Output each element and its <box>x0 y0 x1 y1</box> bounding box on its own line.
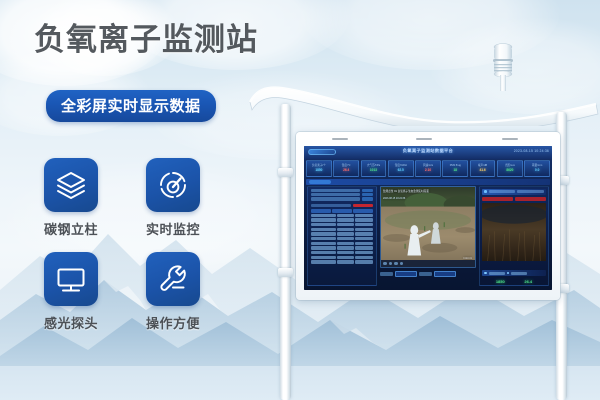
right-panel-readouts: 185026.4 <box>486 279 542 284</box>
table-row[interactable] <box>311 251 373 254</box>
kpi-value: 62.5 <box>398 169 404 172</box>
kpi-card: 大气压/hPa1013 <box>361 160 387 177</box>
selector-label <box>380 272 393 276</box>
kpi-value: 41.6 <box>479 169 485 172</box>
right-panel-header <box>482 189 546 195</box>
table-row[interactable] <box>311 223 373 226</box>
status-badge <box>482 197 513 201</box>
feature-row: 碳钢立柱 实时监控 <box>44 158 244 238</box>
radar-monitor-icon <box>146 158 200 212</box>
table-row[interactable] <box>311 214 373 217</box>
kpi-card: PM2.5/ug18 <box>442 160 468 177</box>
video-selector-row[interactable] <box>380 270 476 278</box>
feature-grid: 碳钢立柱 实时监控 <box>44 158 244 346</box>
screen-subtoolbar <box>306 179 550 185</box>
screen-left-data-panel[interactable] <box>307 186 377 286</box>
wrench-icon <box>146 252 200 306</box>
table-row[interactable] <box>311 242 373 245</box>
kpi-value: 2.10 <box>425 169 431 172</box>
screen-clock: 2023-08-15 10:24:36 <box>514 149 549 153</box>
feature-label: 碳钢立柱 <box>44 219 98 238</box>
vent-slot <box>332 138 348 140</box>
subtitle-pill: 全彩屏实时显示数据 <box>46 90 216 122</box>
alert-badge <box>353 204 373 208</box>
feature-label: 操作方便 <box>146 313 200 332</box>
screen-tab[interactable] <box>309 180 331 184</box>
kpi-card: 湿度/%RH62.5 <box>388 160 414 177</box>
station-promo-banner: 负氧离子监测站数据平台 2023-08-15 10:24:36 负氧离子/个18… <box>0 0 600 400</box>
kpi-strip: 负氧离子/个1850温度/℃26.4大气压/hPa1013湿度/%RH62.5风… <box>306 160 550 177</box>
table-row[interactable] <box>311 256 373 259</box>
video-osd-line2: 2023-08-15 10:24:36 <box>383 197 405 200</box>
kpi-value: 1013 <box>370 169 377 172</box>
video-control-bar[interactable] <box>381 260 475 267</box>
kpi-card: 负氧离子/个1850 <box>306 160 332 177</box>
page-title: 负氧离子监测站 <box>34 24 258 55</box>
record-dot-icon <box>507 272 510 275</box>
record-dot-icon <box>484 272 487 275</box>
kpi-card: 温度/℃26.4 <box>333 160 359 177</box>
layers-icon <box>44 158 98 212</box>
alert-badges <box>482 197 546 201</box>
date-select[interactable] <box>434 271 456 277</box>
kpi-card: 噪声/dB41.6 <box>470 160 496 177</box>
play-icon[interactable] <box>383 262 387 266</box>
table-row[interactable] <box>311 232 373 235</box>
gauge-row <box>311 197 373 200</box>
pole-clamp <box>278 168 293 177</box>
vent-slot <box>502 138 518 140</box>
kpi-value: 8620 <box>506 169 513 172</box>
fullscreen-icon[interactable] <box>400 262 404 266</box>
feature-row: 感光探头 操作方便 <box>44 252 244 332</box>
gauge-list <box>308 187 376 203</box>
screen-right-panel[interactable]: 185026.4 <box>479 186 549 286</box>
snapshot-icon[interactable] <box>394 262 398 266</box>
selector-label <box>419 272 432 276</box>
kpi-value: 18 <box>454 169 458 172</box>
pole-clamp <box>278 268 293 277</box>
display-housing: 负氧离子监测站数据平台 2023-08-15 10:24:36 负氧离子/个18… <box>296 132 560 300</box>
site-photo <box>482 203 546 265</box>
readout-value: 26.4 <box>524 279 532 284</box>
status-badge <box>515 197 546 201</box>
table-body <box>308 213 376 265</box>
kpi-card: 光照/Lux8620 <box>497 160 523 177</box>
curved-canopy-awning <box>248 78 600 126</box>
pause-icon[interactable] <box>389 262 393 266</box>
table-header-row <box>308 209 376 213</box>
support-pole-left <box>280 104 291 400</box>
alert-row <box>311 204 373 208</box>
readout-value: 1850 <box>496 279 505 284</box>
feature-label: 感光探头 <box>44 313 98 332</box>
kpi-card: 风速/m/s2.10 <box>415 160 441 177</box>
right-panel-footer[interactable] <box>482 270 546 276</box>
display-monitor-icon <box>44 252 98 306</box>
feature-item-easy-operation[interactable]: 操作方便 <box>146 252 200 332</box>
camera-select[interactable] <box>395 271 417 277</box>
gauge-row <box>311 189 373 192</box>
kpi-value: 26.4 <box>343 169 349 172</box>
kpi-value: 0.0 <box>535 169 539 172</box>
table-row[interactable] <box>311 237 373 240</box>
vent-slot <box>416 138 432 140</box>
feature-label: 实时监控 <box>146 219 200 238</box>
table-row[interactable] <box>311 260 373 263</box>
feature-item-steel-pole[interactable]: 碳钢立柱 <box>44 158 98 238</box>
table-row[interactable] <box>311 218 373 221</box>
video-osd-line1: 监测点位 01 负氧离子生态监测实时画面 <box>383 189 429 193</box>
table-row[interactable] <box>311 246 373 249</box>
gauge-row <box>311 193 373 196</box>
table-row[interactable] <box>311 228 373 231</box>
camera-video-panel[interactable]: 监测点位 01 负氧离子生态监测实时画面 2023-08-15 10:24:36… <box>380 186 476 268</box>
feature-item-light-sensor[interactable]: 感光探头 <box>44 252 98 332</box>
status-dot-icon <box>484 190 487 193</box>
feature-item-realtime-monitor[interactable]: 实时监控 <box>146 158 200 238</box>
kpi-card: 雨量/mm0.0 <box>524 160 550 177</box>
kpi-value: 1850 <box>315 169 322 172</box>
led-display-screen[interactable]: 负氧离子监测站数据平台 2023-08-15 10:24:36 负氧离子/个18… <box>304 146 552 290</box>
